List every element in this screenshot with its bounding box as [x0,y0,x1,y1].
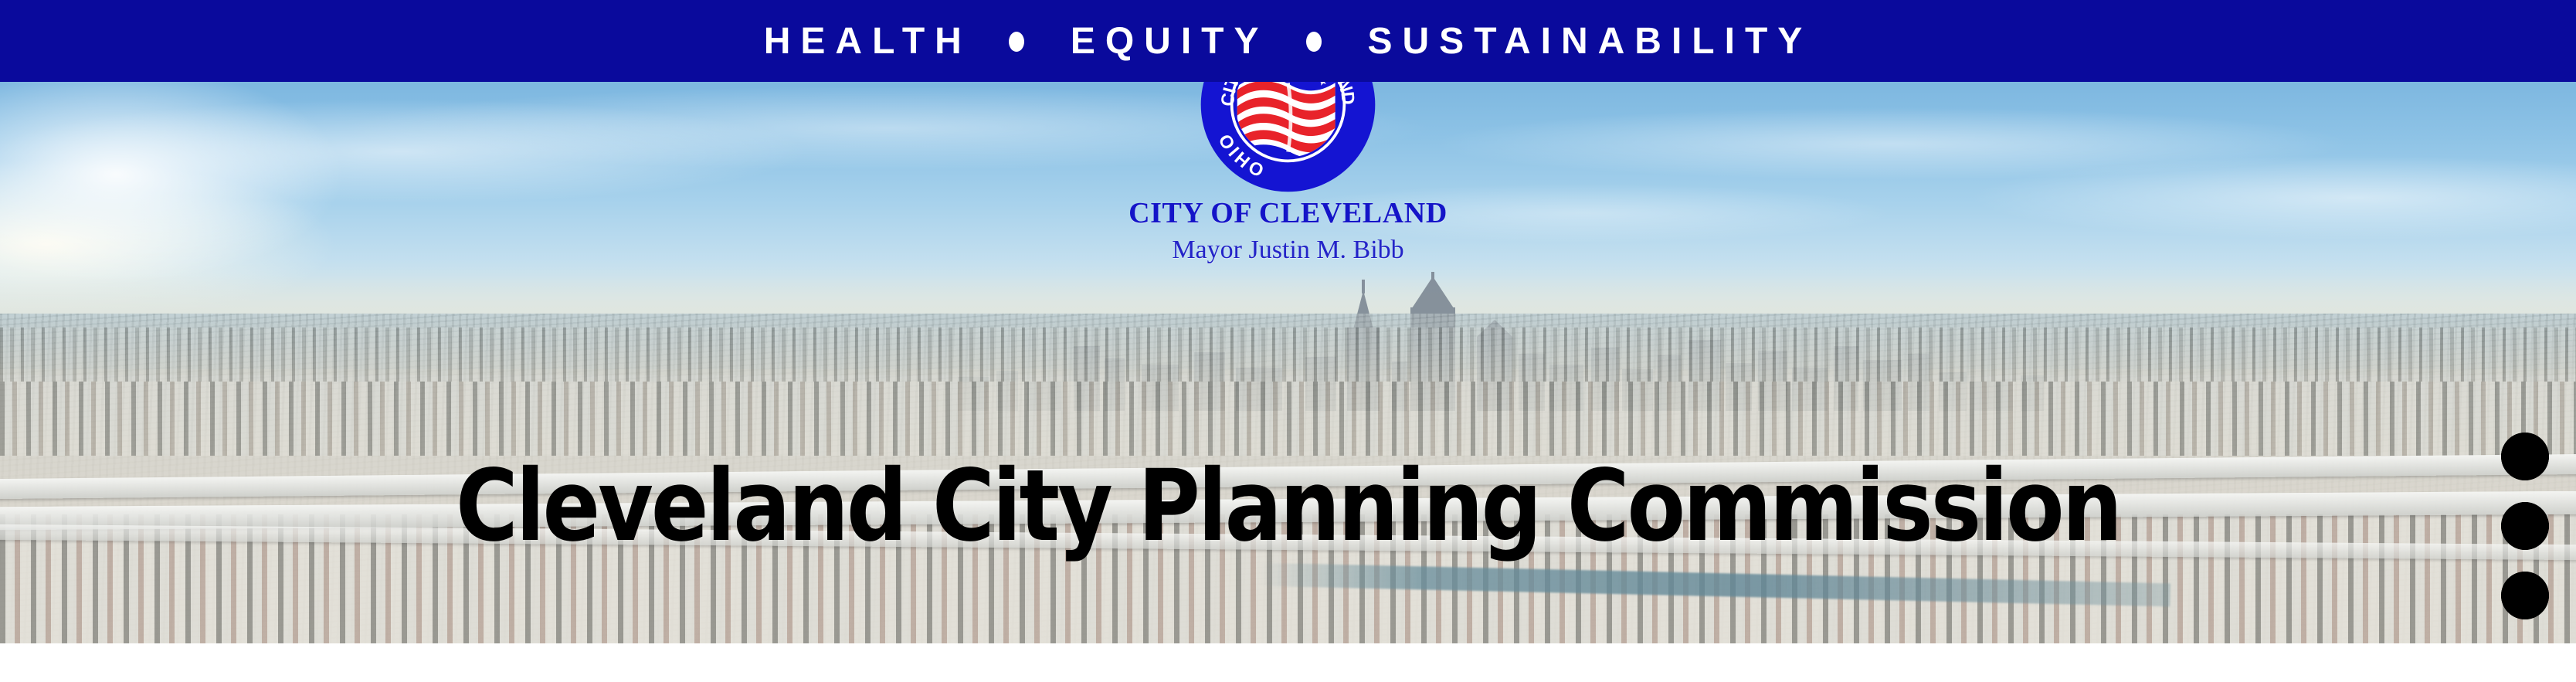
instagram-link[interactable] [2501,502,2549,550]
bottom-white-strip [0,643,2576,682]
tagline-word-equity: EQUITY [1071,23,1269,60]
youtube-link[interactable] [2501,433,2549,480]
neighborhood-texture-upper [0,327,2576,382]
youtube-icon [2501,433,2549,480]
cleveland-city-planning-commission-banner: HEALTH EQUITY SUSTAINABILITY [0,0,2576,682]
bullet-dot-icon [1306,32,1322,52]
tagline-word-health: HEALTH [764,23,972,60]
tagline-bar: HEALTH EQUITY SUSTAINABILITY [0,0,2576,82]
tagline-word-sustainability: SUSTAINABILITY [1368,23,1813,60]
tagline-inner: HEALTH EQUITY SUSTAINABILITY [764,23,1813,60]
social-links-rail [2501,433,2549,619]
facebook-link[interactable] [2501,572,2549,619]
instagram-icon [2501,502,2549,550]
headline: Cleveland City Planning Commission [180,457,2395,556]
neighborhood-texture-mid [0,382,2576,456]
facebook-icon [2501,572,2549,619]
bullet-dot-icon [1009,32,1024,52]
